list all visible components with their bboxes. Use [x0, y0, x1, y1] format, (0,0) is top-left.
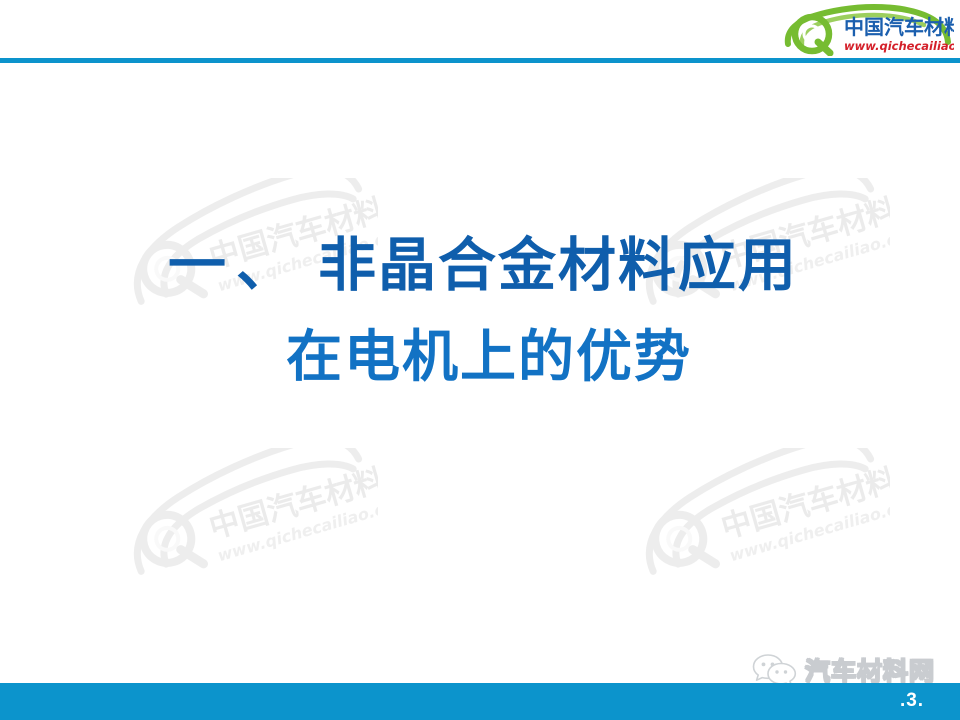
logo-brand-url: www.qichecailiao.com — [844, 39, 954, 53]
watermark-brand-cn: 中国汽车材料网 — [205, 454, 378, 546]
slide-title-line-2: 在电机上的优势 — [0, 330, 960, 386]
watermark-brand-url: www.qichecailiao.com — [215, 492, 378, 565]
watermark-bottom-right: 中国汽车材料网 www.qichecailiao.com — [630, 448, 890, 598]
slide-title-line-1-text: 非晶合金材料应用 — [318, 231, 798, 299]
footer-bar — [0, 683, 960, 720]
presentation-slide: 中国汽车材料网 www.qichecailiao.com 中国汽车材料网 www… — [0, 0, 960, 720]
page-number: .3. — [880, 690, 944, 712]
slide-title-block: 一、非晶合金材料应用 在电机上的优势 — [0, 236, 960, 386]
watermark-brand-cn: 中国汽车材料网 — [717, 454, 890, 546]
watermark-brand-url: www.qichecailiao.com — [727, 492, 890, 565]
watermark-bottom-left: 中国汽车材料网 www.qichecailiao.com — [118, 448, 378, 598]
slide-title-number: 一、 — [168, 231, 304, 299]
logo-brand-cn: 中国汽车材料网 — [844, 15, 954, 39]
header-divider-rule — [0, 58, 960, 63]
brand-logo: 中国汽车材料网 www.qichecailiao.com — [782, 4, 954, 56]
slide-title-line-1: 一、非晶合金材料应用 — [0, 236, 960, 294]
